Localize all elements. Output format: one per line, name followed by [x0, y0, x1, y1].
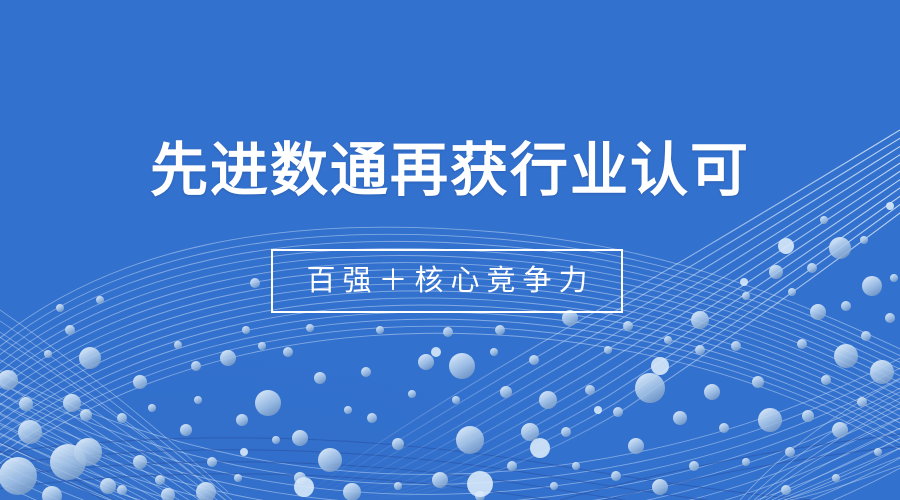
- banner-content: 先进数通再获行业认可 百强＋核心竞争力: [0, 0, 900, 500]
- subtitle-text: 百强＋核心竞争力: [299, 264, 594, 298]
- page-title: 先进数通再获行业认可: [0, 136, 900, 206]
- subtitle-badge: 百强＋核心竞争力: [271, 249, 623, 313]
- announcement-banner: 先进数通再获行业认可 百强＋核心竞争力: [0, 0, 900, 500]
